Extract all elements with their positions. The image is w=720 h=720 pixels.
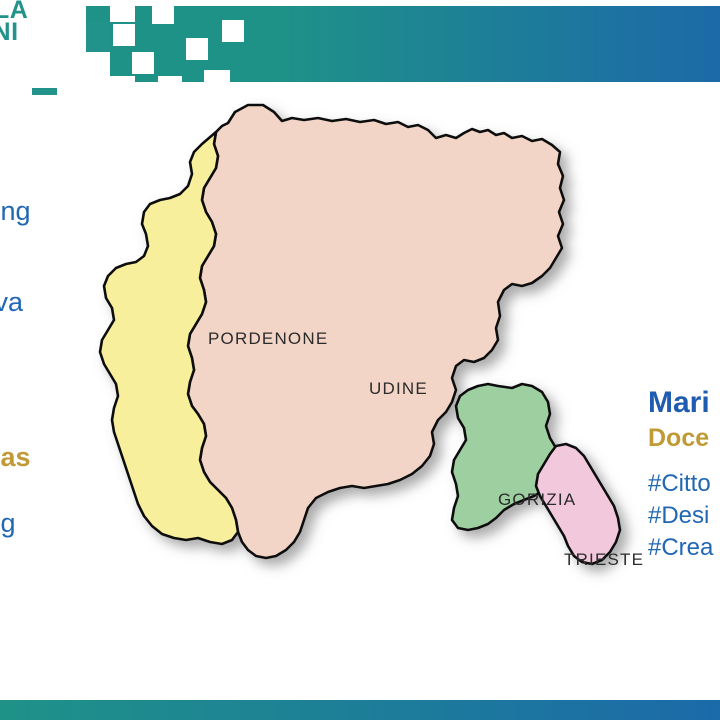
mosaic-knockout xyxy=(222,20,244,42)
left-text-line-1: ching xyxy=(0,196,31,227)
region-label-gorizia: GORIZIA xyxy=(498,490,576,509)
mosaic-knockout xyxy=(110,6,135,22)
speaker-role: Doce xyxy=(648,424,709,453)
logo[interactable]: OLA ANI zione xyxy=(0,0,86,88)
mosaic-knockout xyxy=(132,52,154,74)
map-friuli-venezia-giulia[interactable]: PORDENONE UDINE GORIZIA TRIESTE xyxy=(60,88,670,688)
mosaic-knockout xyxy=(110,76,135,88)
left-text-line-4: loras xyxy=(0,442,31,473)
top-banner-gradient xyxy=(85,6,720,82)
region-label-udine: UDINE xyxy=(369,379,428,398)
bottom-bar xyxy=(0,700,720,720)
speaker-name: Mari xyxy=(648,386,710,420)
hashtag-1: #Citto xyxy=(648,470,711,498)
mosaic-knockout xyxy=(85,52,110,88)
left-text-line-5: king xyxy=(0,508,16,539)
left-text-line-3: ativa xyxy=(0,287,23,318)
mosaic-knockout xyxy=(186,38,208,60)
top-banner: OLA ANI zione xyxy=(0,0,720,88)
mosaic-knockout xyxy=(158,76,182,88)
left-text-line-6: tali xyxy=(0,541,1,572)
logo-line-2: ANI xyxy=(0,18,19,47)
mosaic-knockout xyxy=(204,70,230,88)
slide-canvas: OLA ANI zione PORDEN xyxy=(0,0,720,720)
region-label-trieste: TRIESTE xyxy=(564,550,644,569)
hashtag-2: #Desi xyxy=(648,502,709,530)
mosaic-knockout xyxy=(113,24,135,46)
mosaic-knockout xyxy=(152,6,174,24)
hashtag-3: #Crea xyxy=(648,534,713,562)
region-label-pordenone: PORDENONE xyxy=(208,329,328,348)
map-svg: PORDENONE UDINE GORIZIA TRIESTE xyxy=(60,88,670,688)
